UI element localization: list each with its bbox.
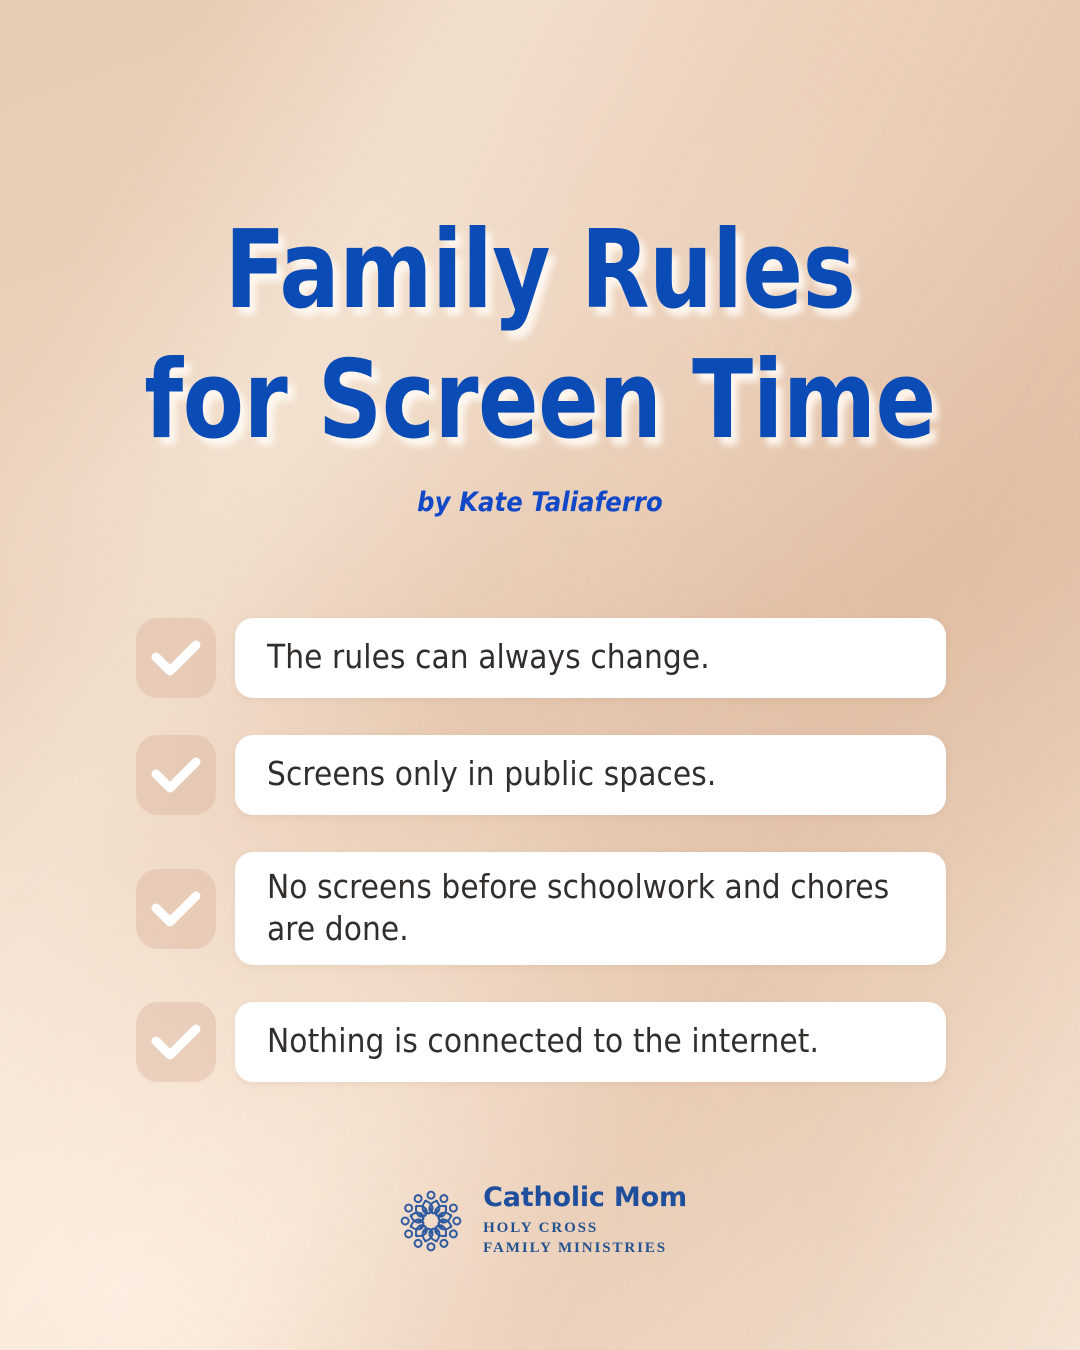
author-byline: by Kate Taliaferro	[0, 487, 1080, 518]
brand-logo: Catholic Mom HOLY CROSS FAMILY MINISTRIE…	[0, 1183, 1080, 1259]
rule-text: Nothing is connected to the internet.	[267, 1020, 819, 1062]
check-icon	[150, 1020, 202, 1064]
rule-pill-3[interactable]: No screens before schoolwork and chores …	[235, 852, 946, 965]
list-item[interactable]: The rules can always change.	[136, 618, 946, 698]
list-item[interactable]: Nothing is connected to the internet.	[136, 1002, 946, 1082]
poster-canvas: Family Rules for Screen Time by Kate Tal…	[0, 0, 1080, 1350]
poster-content: Family Rules for Screen Time by Kate Tal…	[0, 0, 1080, 1350]
check-icon	[150, 887, 202, 931]
page-title: Family Rules for Screen Time	[0, 206, 1080, 465]
checkbox-2[interactable]	[136, 735, 216, 815]
rosary-wreath-icon	[393, 1183, 469, 1259]
list-item[interactable]: No screens before schoolwork and chores …	[136, 852, 946, 965]
check-icon	[150, 753, 202, 797]
rule-pill-1[interactable]: The rules can always change.	[235, 618, 946, 698]
rule-text: Screens only in public spaces.	[267, 753, 716, 795]
title-line-1: Family Rules	[43, 206, 1037, 336]
list-item[interactable]: Screens only in public spaces.	[136, 735, 946, 815]
rule-text: No screens before schoolwork and chores …	[267, 866, 916, 949]
brand-tagline-line-2: FAMILY MINISTRIES	[483, 1238, 687, 1258]
rules-list: The rules can always change. Screens onl…	[136, 618, 946, 1082]
rule-pill-4[interactable]: Nothing is connected to the internet.	[235, 1002, 946, 1082]
rule-text: The rules can always change.	[267, 636, 710, 678]
brand-logo-text: Catholic Mom HOLY CROSS FAMILY MINISTRIE…	[483, 1184, 687, 1259]
rule-pill-2[interactable]: Screens only in public spaces.	[235, 735, 946, 815]
brand-tagline-line-1: HOLY CROSS	[483, 1218, 687, 1238]
brand-name: Catholic Mom	[483, 1184, 687, 1211]
checkbox-3[interactable]	[136, 869, 216, 949]
title-line-2: for Screen Time	[43, 336, 1037, 466]
checkbox-1[interactable]	[136, 618, 216, 698]
checkbox-4[interactable]	[136, 1002, 216, 1082]
check-icon	[150, 636, 202, 680]
